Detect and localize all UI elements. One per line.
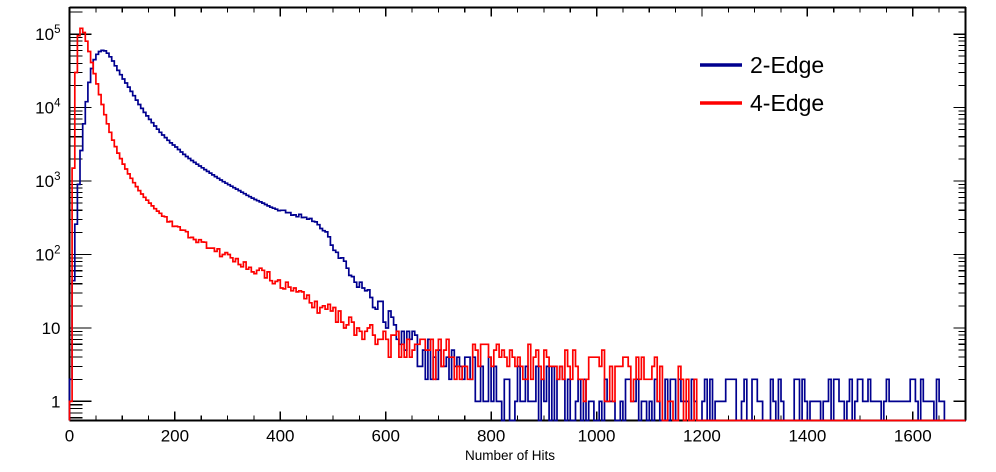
legend-entry-2-edge-label: 2-Edge — [750, 52, 824, 78]
x-tick-label: 600 — [372, 427, 400, 446]
plot-svg: 02004006008001000120014001600 1101021031… — [0, 0, 996, 472]
x-tick-label: 0 — [65, 427, 74, 446]
x-tick-label: 800 — [477, 427, 505, 446]
chart-canvas: 02004006008001000120014001600 1101021031… — [0, 0, 996, 472]
x-tick-label: 200 — [161, 427, 189, 446]
y-tick-label: 10 — [42, 319, 61, 338]
x-tick-label: 400 — [266, 427, 294, 446]
y-tick-label: 1 — [51, 392, 60, 411]
x-tick-label: 1600 — [894, 427, 932, 446]
x-tick-label: 1000 — [578, 427, 616, 446]
x-axis-title: Number of Hits — [465, 448, 555, 463]
x-tick-label: 1400 — [788, 427, 826, 446]
legend-entry-4-edge-label: 4-Edge — [750, 90, 824, 116]
x-tick-label: 1200 — [683, 427, 721, 446]
